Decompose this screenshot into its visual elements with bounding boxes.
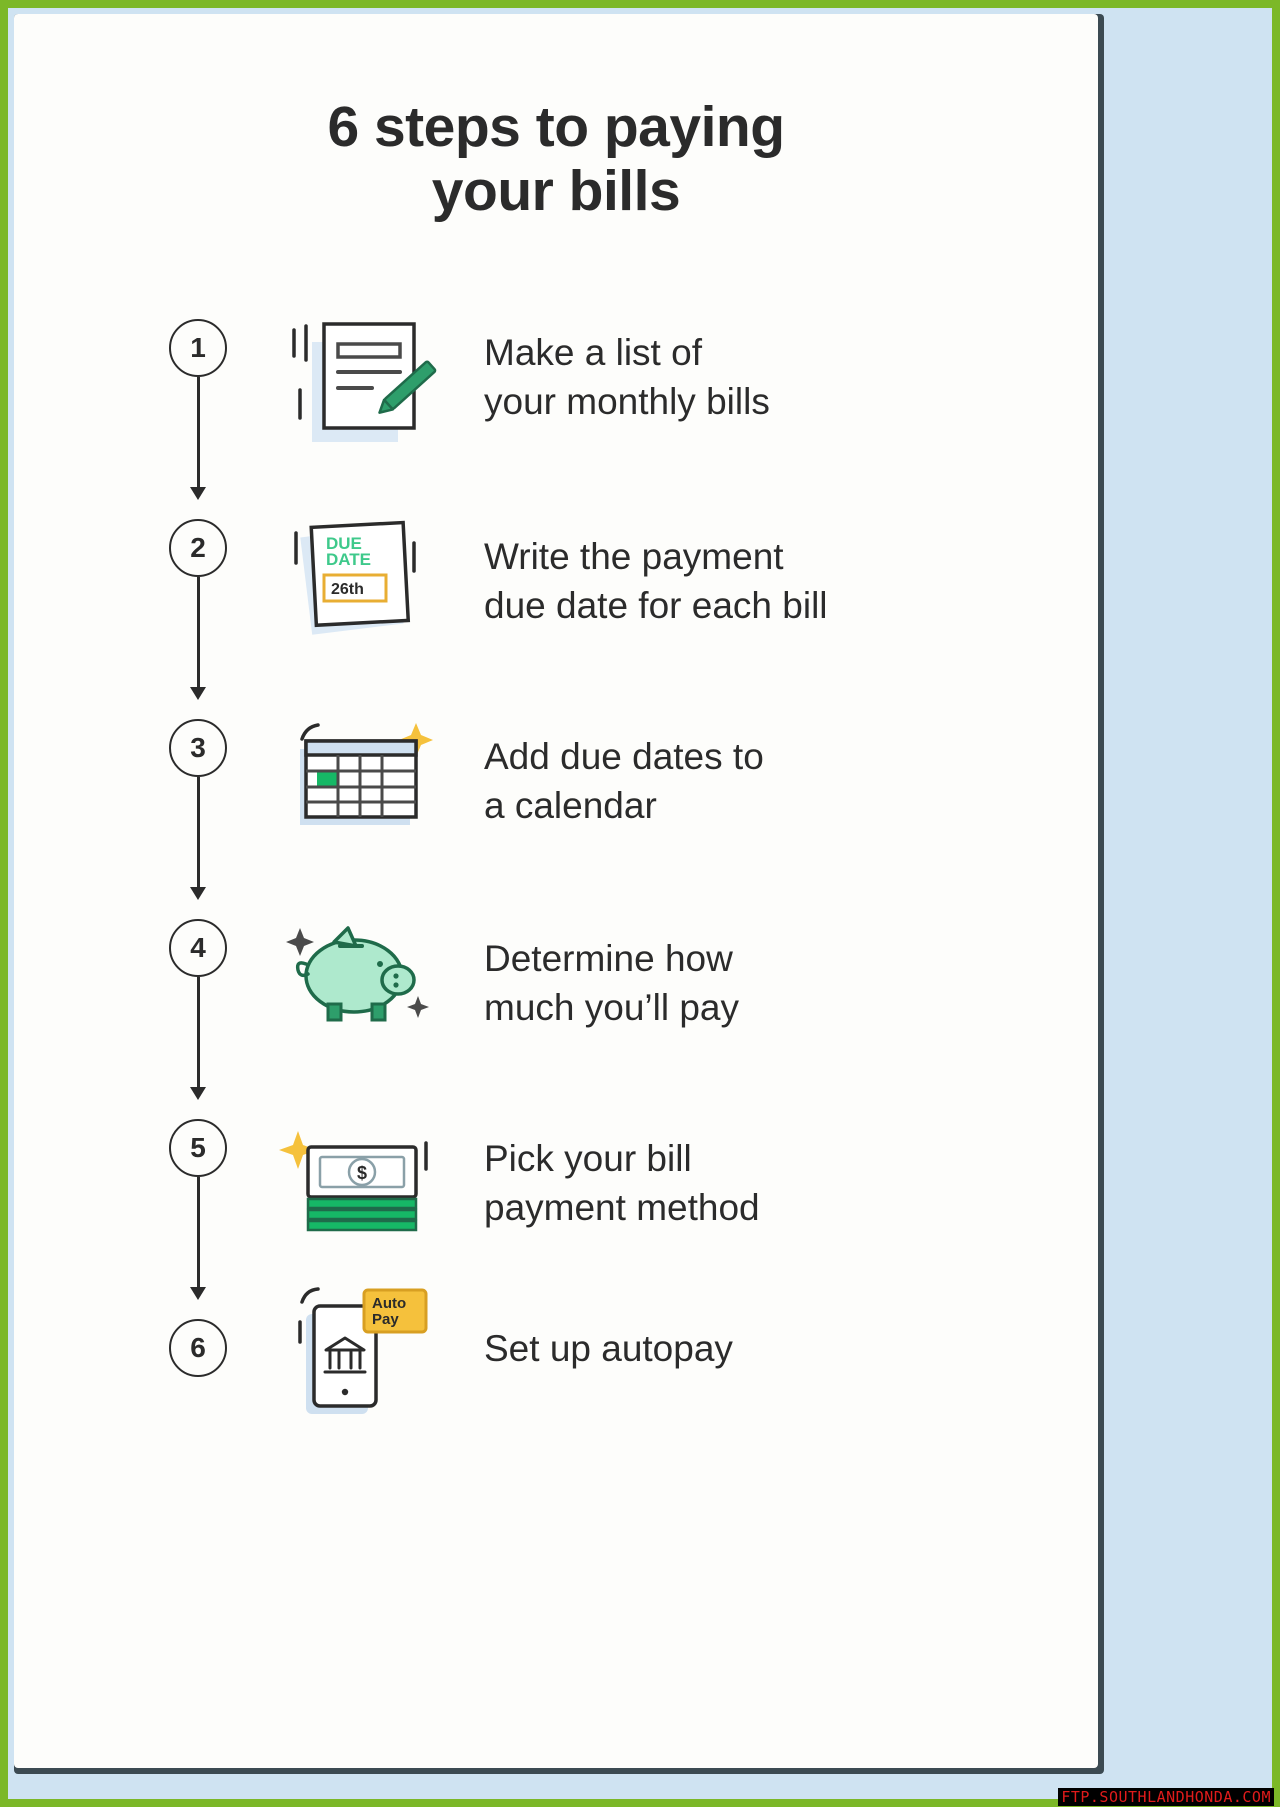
watermark-text: FTP.SOUTHLANDHONDA.COM — [1058, 1788, 1274, 1807]
step-label-line-1: Determine how — [484, 935, 1044, 984]
step-item: 5 $ — [14, 1119, 1098, 1319]
step-label-line-2: much you’ll pay — [484, 984, 1044, 1033]
calendar-icon — [276, 687, 446, 837]
step-item: 4 — [14, 919, 1098, 1119]
phone-autopay-icon: Auto Pay — [276, 1264, 446, 1414]
step-label: Make a list of your monthly bills — [484, 329, 1044, 427]
infographic-card: 6 steps to paying your bills 1 — [14, 14, 1098, 1768]
step-item: 6 — [14, 1319, 1098, 1519]
due-date-day-badge: 26th — [331, 581, 364, 598]
step-number-badge: 3 — [169, 719, 227, 777]
document-pencil-icon — [276, 294, 446, 444]
outer-green-frame: 6 steps to paying your bills 1 — [0, 0, 1280, 1807]
step-number-badge: 5 — [169, 1119, 227, 1177]
step-connector-line — [197, 577, 200, 689]
step-label-line-1: Make a list of — [484, 329, 1044, 378]
step-number-badge: 4 — [169, 919, 227, 977]
step-number-badge: 2 — [169, 519, 227, 577]
title-line-2: your bills — [14, 160, 1098, 224]
cash-stack-icon: $ — [276, 1089, 446, 1239]
step-label: Pick your bill payment method — [484, 1135, 1044, 1233]
autopay-badge-line-1: Auto — [372, 1295, 406, 1312]
step-number-badge: 6 — [169, 1319, 227, 1377]
step-item: 1 — [14, 319, 1098, 519]
step-connector-line — [197, 1177, 200, 1289]
title-line-1: 6 steps to paying — [14, 96, 1098, 160]
step-connector-arrow — [190, 1287, 206, 1300]
page-title: 6 steps to paying your bills — [14, 96, 1098, 224]
step-connector-arrow — [190, 487, 206, 500]
step-label: Determine how much you’ll pay — [484, 935, 1044, 1033]
steps-list: 1 — [14, 319, 1098, 1519]
step-label: Write the payment due date for each bill — [484, 533, 1044, 631]
step-label-line-1: Set up autopay — [484, 1325, 1044, 1374]
step-item: 3 — [14, 719, 1098, 919]
step-connector-line — [197, 977, 200, 1089]
step-label-line-2: a calendar — [484, 782, 1044, 831]
step-label: Set up autopay — [484, 1325, 1044, 1374]
step-number-badge: 1 — [169, 319, 227, 377]
step-item: 2 DUE DATE — [14, 519, 1098, 719]
due-date-bill-icon: DUE DATE 26th — [276, 491, 446, 641]
step-label-line-2: payment method — [484, 1184, 1044, 1233]
step-label-line-2: due date for each bill — [484, 582, 1044, 631]
due-date-text-line-2: DATE — [326, 550, 371, 569]
step-connector-arrow — [190, 687, 206, 700]
step-label-line-1: Pick your bill — [484, 1135, 1044, 1184]
dollar-symbol: $ — [357, 1163, 367, 1183]
step-label: Add due dates to a calendar — [484, 733, 1044, 831]
step-connector-line — [197, 377, 200, 489]
step-label-line-2: your monthly bills — [484, 378, 1044, 427]
autopay-badge-line-2: Pay — [372, 1311, 399, 1328]
piggy-bank-icon — [276, 884, 446, 1034]
step-connector-line — [197, 777, 200, 889]
step-label-line-1: Write the payment — [484, 533, 1044, 582]
step-label-line-1: Add due dates to — [484, 733, 1044, 782]
step-connector-arrow — [190, 1087, 206, 1100]
step-connector-arrow — [190, 887, 206, 900]
